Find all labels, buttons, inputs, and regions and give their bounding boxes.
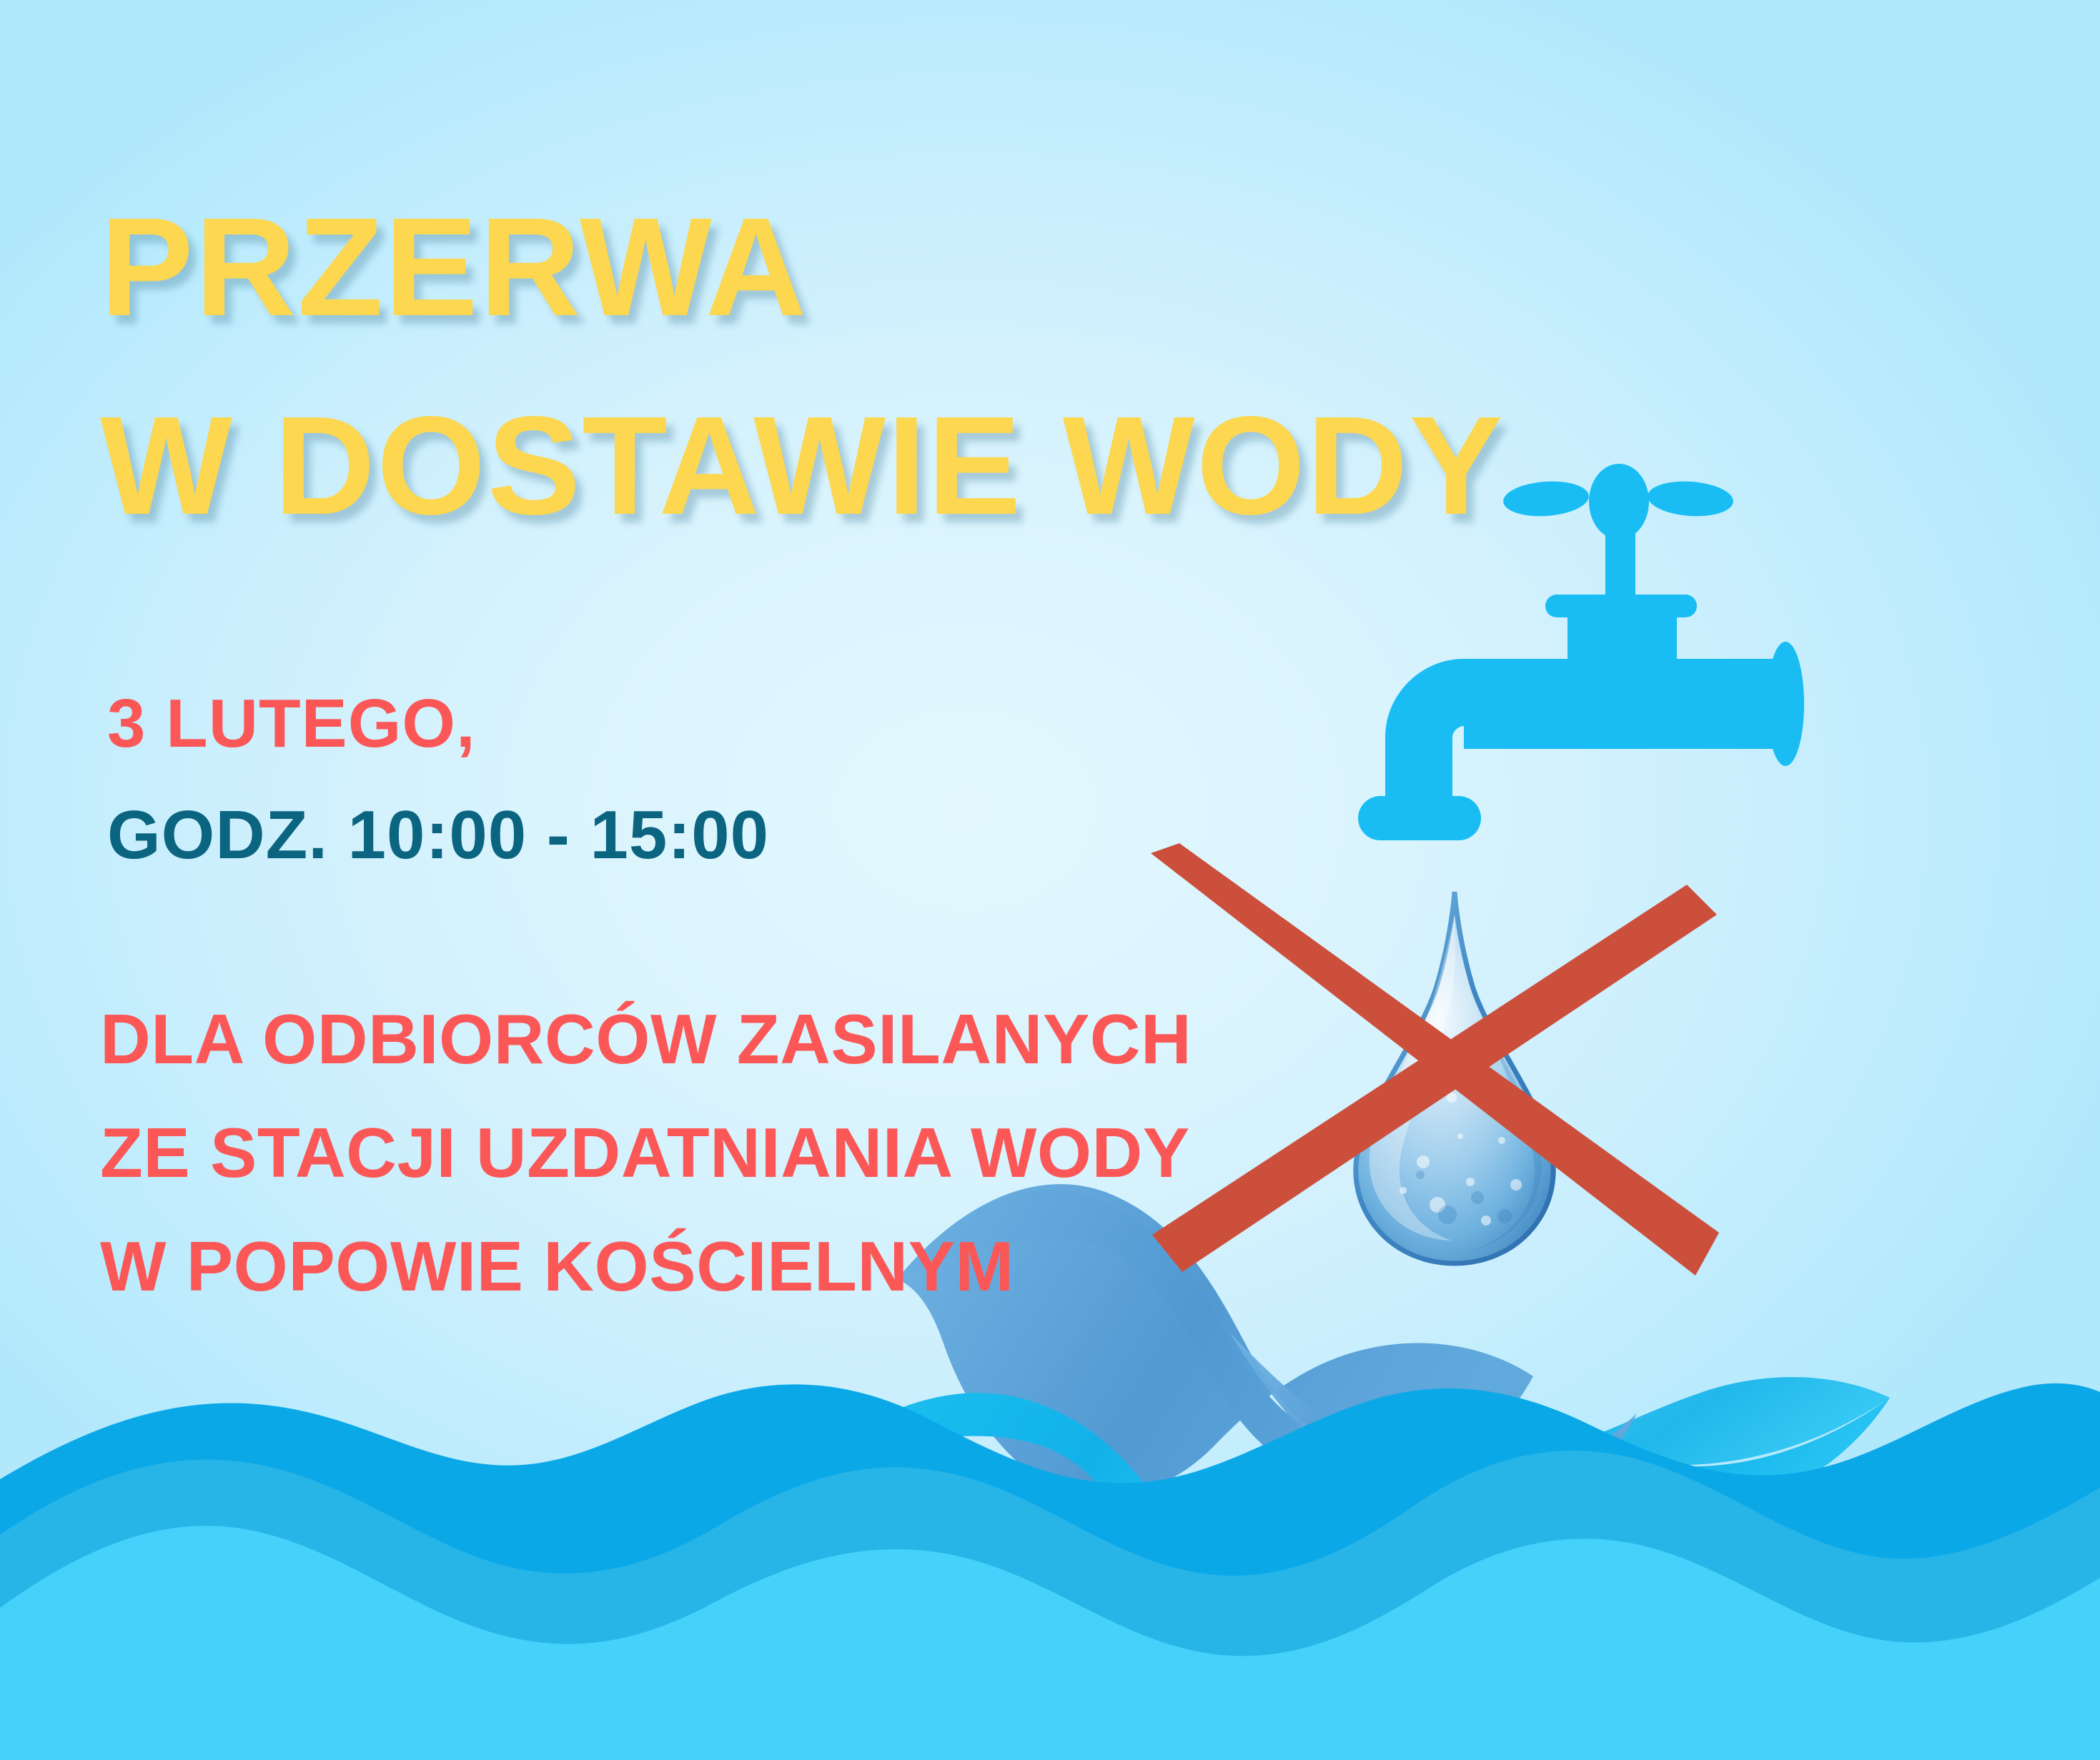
wave-decoration: [0, 0, 2100, 1760]
water-outage-poster: PRZERWA W DOSTAWIE WODY 3 LUTEGO, GODZ. …: [0, 0, 2100, 1760]
